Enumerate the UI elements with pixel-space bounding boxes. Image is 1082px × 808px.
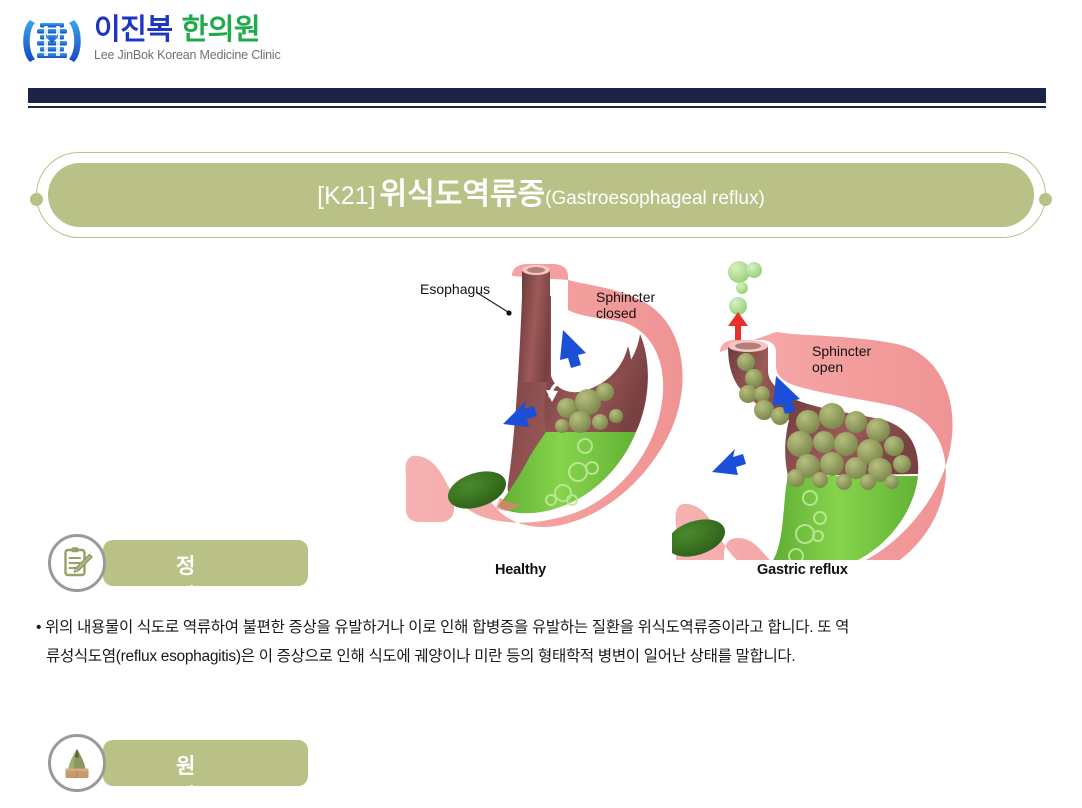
sphincter-arrow-lower xyxy=(712,449,746,475)
sphincter-closed-label-line1: Sphincter xyxy=(596,289,655,305)
page-title: [K21]위식도역류증(Gastroesophageal reflux) xyxy=(317,180,765,210)
potted-plant-icon xyxy=(48,734,106,792)
clinic-name-english: Lee JinBok Korean Medicine Clinic xyxy=(94,48,281,62)
gastric-reflux-caption: Gastric reflux xyxy=(757,562,848,578)
clinic-name-ko-part1: 이진복 xyxy=(94,14,173,46)
definition-line1: 위의 내용물이 식도로 역류하여 불편한 증상을 유발하거나 이로 인해 합병증… xyxy=(45,619,849,636)
definition-line2: 류성식도염(reflux esophagitis)은 이 증상으로 인해 식도에… xyxy=(36,643,1046,672)
cause-pill xyxy=(103,740,308,786)
title-banner-pill: [K21]위식도역류증(Gastroesophageal reflux) xyxy=(48,163,1034,227)
title-name-korean: 위식도역류증 xyxy=(380,178,546,211)
header-navy-rule xyxy=(28,106,1046,108)
healthy-stomach-illustration: Esophagus Sphincter closed xyxy=(400,250,700,560)
sphincter-arrow-upper xyxy=(560,330,586,368)
title-code: [K21] xyxy=(317,182,375,210)
clinic-name-ko-part2: 한의원 xyxy=(182,14,261,46)
clipboard-pencil-icon xyxy=(48,534,106,592)
sphincter-open-label-line2: open xyxy=(812,359,843,375)
header-navy-bar xyxy=(28,88,1046,103)
title-banner-dot-left xyxy=(30,193,43,206)
clinic-building-logo-icon xyxy=(16,14,88,68)
sphincter-open-label-line1: Sphincter xyxy=(812,343,871,359)
slide-page: 이진복한의원 Lee JinBok Korean Medicine Clinic… xyxy=(0,0,1082,808)
definition-body-text: • 위의 내용물이 식도로 역류하여 불편한 증상을 유발하거나 이로 인해 합… xyxy=(36,614,1046,671)
escaping-bubbles xyxy=(728,261,762,315)
definition-bullet: • xyxy=(36,619,41,636)
esophagus-label: Esophagus xyxy=(420,281,490,297)
title-name-english: (Gastroesophageal reflux) xyxy=(545,188,765,209)
definition-pill xyxy=(103,540,308,586)
sphincter-closed-label-line2: closed xyxy=(596,305,636,321)
cause-label: 원인 xyxy=(176,750,196,808)
title-banner-dot-right xyxy=(1039,193,1052,206)
clinic-name-korean: 이진복한의원 xyxy=(94,16,281,45)
healthy-caption: Healthy xyxy=(495,562,546,578)
gastric-reflux-illustration: Sphincter open xyxy=(672,250,992,560)
clinic-logo: 이진복한의원 Lee JinBok Korean Medicine Clinic xyxy=(16,14,281,68)
title-banner: [K21]위식도역류증(Gastroesophageal reflux) xyxy=(28,152,1054,238)
definition-label: 정의 xyxy=(176,550,196,610)
